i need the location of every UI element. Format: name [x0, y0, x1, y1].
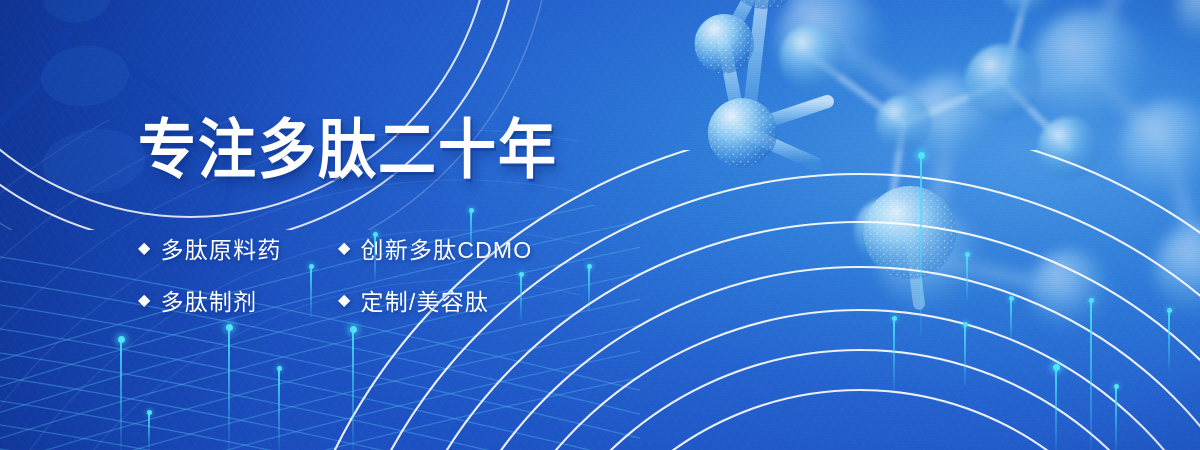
feature-item-formulation: ◆ 多肽制剂	[138, 283, 338, 317]
feature-item-api: ◆ 多肽原料药	[138, 231, 338, 265]
feature-list: ◆ 多肽原料药 ◆ 创新多肽CDMO ◆ 多肽制剂 ◆ 定制/美容肽	[138, 222, 618, 326]
feature-item-cdmo: ◆ 创新多肽CDMO	[338, 231, 618, 265]
feature-item-label: 多肽原料药	[161, 231, 282, 265]
hero-banner: 专注多肽二十年 ◆ 多肽原料药 ◆ 创新多肽CDMO ◆ 多肽制剂 ◆ 定制/美…	[0, 0, 1200, 450]
feature-item-label: 定制/美容肽	[361, 283, 490, 317]
feature-item-label: 创新多肽CDMO	[361, 231, 533, 265]
diamond-bullet-icon: ◆	[138, 241, 152, 257]
feature-item-custom-cosmetic: ◆ 定制/美容肽	[338, 283, 618, 317]
diamond-bullet-icon: ◆	[138, 293, 152, 309]
banner-content: 专注多肽二十年 ◆ 多肽原料药 ◆ 创新多肽CDMO ◆ 多肽制剂 ◆ 定制/美…	[0, 0, 1200, 450]
diamond-bullet-icon: ◆	[338, 293, 352, 309]
diamond-bullet-icon: ◆	[338, 241, 352, 257]
feature-item-label: 多肽制剂	[161, 283, 258, 317]
page-title: 专注多肽二十年	[138, 118, 558, 183]
